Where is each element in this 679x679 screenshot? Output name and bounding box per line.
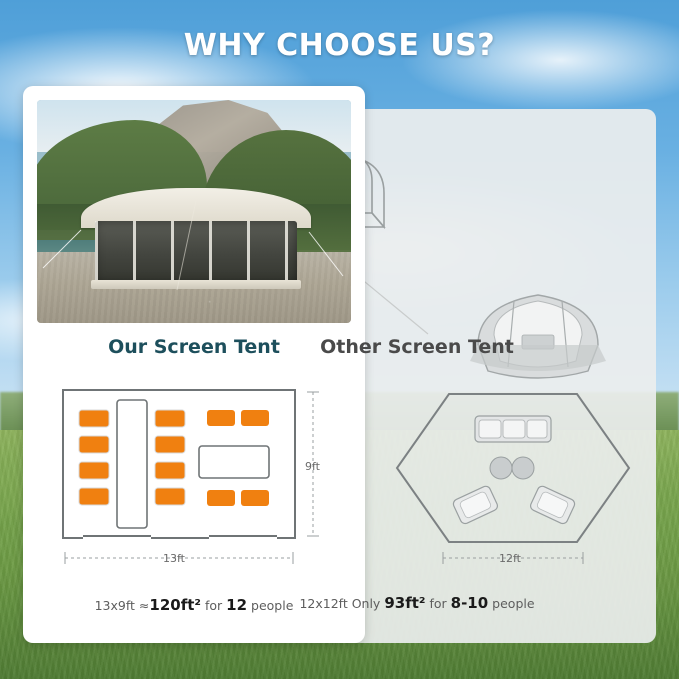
other-caption-middle: for xyxy=(429,596,446,611)
other-caption-prefix: 12x12ft Only xyxy=(299,596,380,611)
our-caption-area: 120 xyxy=(149,596,180,614)
our-tent-floorplan: 9ft 13ft xyxy=(59,386,329,571)
comparison-panel: Our Screen Tent Other Screen Tent xyxy=(23,86,656,643)
other-tent-title: Other Screen Tent xyxy=(178,336,656,358)
photo-guy-lines xyxy=(37,100,351,323)
other-caption-people-count: 8-10 xyxy=(451,594,489,612)
other-caption-area: 93 xyxy=(384,594,405,612)
product-infographic: WHY CHOOSE US? xyxy=(0,0,679,679)
our-height-label: 9ft xyxy=(305,460,320,473)
floorplan-left-svg xyxy=(59,386,329,571)
our-width-label: 13ft xyxy=(163,552,185,565)
other-caption-unit: ft² xyxy=(405,594,425,612)
other-caption-suffix: people xyxy=(492,596,534,611)
other-tent-floorplan: 12ft xyxy=(383,382,643,572)
our-tent-photo xyxy=(37,100,351,323)
page-title: WHY CHOOSE US? xyxy=(0,28,679,63)
other-width-label: 12ft xyxy=(499,552,521,565)
floorplan-right-svg xyxy=(383,382,643,572)
our-caption-prefix: 13x9ft ≈ xyxy=(95,598,150,613)
other-tent-caption: 12x12ft Only 93ft² for 8-10 people xyxy=(178,594,656,612)
